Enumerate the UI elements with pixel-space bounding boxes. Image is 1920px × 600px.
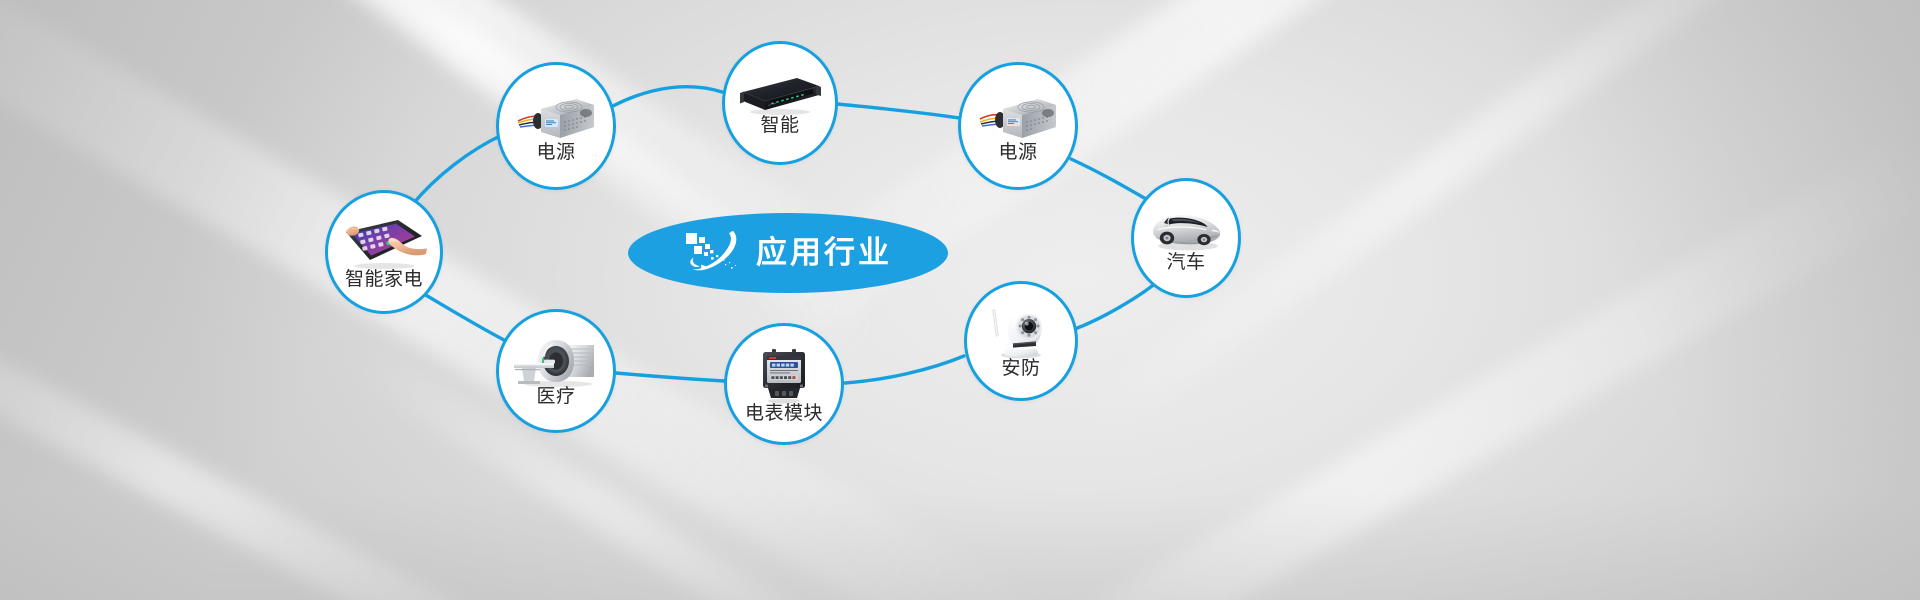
link-automotive-security (1072, 278, 1162, 330)
node-label: 电表模块 (745, 404, 823, 423)
node-meter-module[interactable]: 电表模块 (724, 323, 844, 445)
link-security-meter (845, 356, 964, 383)
node-label: 电源 (998, 143, 1037, 162)
node-automotive[interactable]: 汽车 (1131, 178, 1241, 298)
rackmount-server-icon (737, 72, 823, 116)
link-power-left-smart (613, 87, 722, 106)
node-medical[interactable]: 医疗 (496, 309, 616, 433)
node-smart-home[interactable]: 智能家电 (325, 190, 443, 314)
node-label: 医疗 (536, 387, 575, 406)
center-title: 应用行业 (756, 238, 892, 269)
pixel-swoosh-logo-icon (684, 228, 742, 278)
center-badge[interactable]: 应用行业 (628, 213, 948, 293)
node-power-left[interactable]: 电源 (496, 62, 616, 190)
node-label: 电源 (536, 143, 575, 162)
tablet-touch-hand-icon (340, 216, 428, 270)
electric-meter-icon (754, 346, 814, 404)
node-label: 智能 (760, 116, 799, 135)
node-power-right[interactable]: 电源 (958, 62, 1078, 190)
node-security[interactable]: 安防 (964, 281, 1078, 401)
atx-power-supply-icon (976, 91, 1060, 143)
atx-power-supply-icon (514, 91, 598, 143)
sports-car-icon (1144, 205, 1228, 253)
link-smart-power-right (838, 104, 959, 118)
application-industry-diagram: 电源 (0, 0, 1920, 600)
node-smart[interactable]: 智能 (722, 41, 838, 165)
node-label: 安防 (1001, 359, 1040, 378)
node-label: 智能家电 (345, 270, 423, 289)
link-smart-home-power-left (412, 135, 502, 205)
ip-camera-icon (984, 305, 1058, 359)
link-meter-medical (616, 373, 724, 381)
link-medical-smart-home (417, 290, 504, 340)
ct-scanner-icon (510, 337, 602, 387)
connector-lines (0, 0, 1920, 600)
node-label: 汽车 (1166, 253, 1205, 272)
